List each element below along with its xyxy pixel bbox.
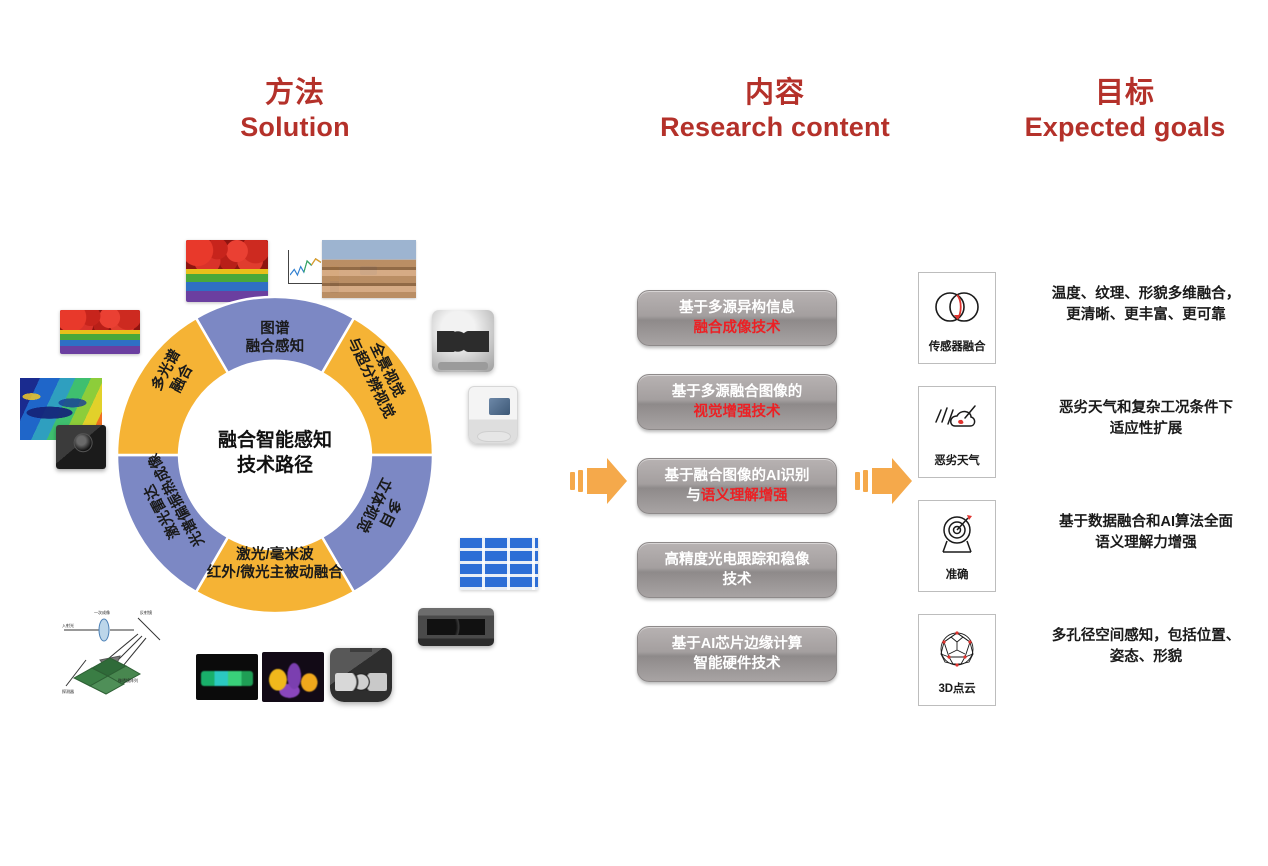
step-box-4-text: 基于AI芯片边缘计算 智能硬件技术 xyxy=(672,634,803,675)
hyperspectral-cube-thumbnail xyxy=(186,240,268,302)
step-box-4[interactable]: 基于AI芯片边缘计算 智能硬件技术 xyxy=(637,626,837,682)
wheel-center-label: 融合智能感知 技术路径 xyxy=(185,429,365,478)
step-box-2-text: 基于融合图像的AI识别 与语义理解增强 xyxy=(665,466,810,507)
goal-text-2: 基于数据融合和AI算法全面 语义理解力增强 xyxy=(1030,512,1262,554)
column-header-goals-cn: 目标 xyxy=(960,76,1268,111)
column-header-solution: 方法 Solution xyxy=(170,76,420,144)
step-box-2[interactable]: 基于融合图像的AI识别 与语义理解增强 xyxy=(637,458,837,514)
spectral-plot-y-axis xyxy=(288,250,289,284)
pipeline-blue-equipment xyxy=(360,266,377,275)
goal-card-1[interactable]: 恶劣天气 xyxy=(918,386,996,478)
column-header-content: 内容 Research content xyxy=(610,76,940,144)
3d-point-cloud-sphere-icon xyxy=(931,624,983,674)
goal-card-2-label: 准确 xyxy=(946,566,969,582)
step-box-0-text: 基于多源异构信息 融合成像技术 xyxy=(679,298,795,339)
sensor-fusion-venn-icon xyxy=(931,282,983,332)
thermal-night-scene-thumbnail xyxy=(262,652,324,702)
spectral-curve-plot-thumbnail xyxy=(272,246,326,298)
goal-card-2[interactable]: 准确 xyxy=(918,500,996,592)
arrow-solution-to-content xyxy=(570,455,628,507)
column-header-content-cn: 内容 xyxy=(610,76,940,111)
column-header-solution-en: Solution xyxy=(170,111,420,144)
goal-card-0-label: 传感器融合 xyxy=(929,338,986,354)
svg-text:入射光: 入射光 xyxy=(62,622,74,628)
ptz-white-camera-thumbnail xyxy=(468,386,518,444)
wheel-label-0: 图谱 融合感知 xyxy=(225,321,325,356)
column-header-goals: 目标 Expected goals xyxy=(960,76,1268,144)
column-header-goals-en: Expected goals xyxy=(960,111,1268,144)
goal-text-0: 温度、纹理、形貌多维融合， 更清晰、更丰富、更可靠 xyxy=(1030,284,1262,326)
lidar-point-cloud-scene-thumbnail xyxy=(196,654,258,700)
infographic-canvas: 方法 Solution 内容 Research content 目标 Expec… xyxy=(0,0,1268,866)
wheel-label-3: 激光/毫米波 红外/微光主被动融合 xyxy=(187,547,363,582)
black-industrial-camera-thumbnail xyxy=(56,425,106,469)
eo-gimbal-turret-thumbnail xyxy=(330,648,392,702)
solution-wheel: 图谱 融合感知 全景视觉 与超分辨视觉 多目 立体视觉 激光/毫米波 红外/微光… xyxy=(115,295,435,615)
arrow-content-to-goals xyxy=(855,455,913,507)
goal-row-1: 恶劣天气 恶劣天气和复杂工况条件下 适应性扩展 xyxy=(918,386,1258,482)
svg-text:探测器: 探测器 xyxy=(62,688,74,694)
pipeline-inspection-photo-thumbnail xyxy=(322,240,416,298)
step-box-0[interactable]: 基于多源异构信息 融合成像技术 xyxy=(637,290,837,346)
svg-text:一次成像: 一次成像 xyxy=(94,609,110,615)
goal-card-1-label: 恶劣天气 xyxy=(934,452,979,468)
bad-weather-rain-icon xyxy=(931,396,983,446)
spectral-plot-x-axis xyxy=(288,283,322,284)
panoramic-multi-lens-camera-thumbnail xyxy=(432,310,494,372)
goal-row-2: 准确 基于数据融合和AI算法全面 语义理解力增强 xyxy=(918,500,1258,596)
goal-row-3: 3D点云 多孔径空间感知，包括位置、 姿态、形貌 xyxy=(918,614,1258,710)
column-header-solution-cn: 方法 xyxy=(170,76,420,111)
goal-card-0[interactable]: 传感器融合 xyxy=(918,272,996,364)
pipeline-worker-figure xyxy=(330,266,338,294)
goal-row-0: 传感器融合 温度、纹理、形貌多维融合， 更清晰、更丰富、更可靠 xyxy=(918,272,1258,368)
step-box-1-text: 基于多源融合图像的 视觉增强技术 xyxy=(672,382,803,423)
goal-card-3-label: 3D点云 xyxy=(939,680,976,696)
polarization-brick-pattern-thumbnail xyxy=(460,538,538,590)
svg-text:微透镜阵列: 微透镜阵列 xyxy=(118,677,138,683)
step-box-1[interactable]: 基于多源融合图像的 视觉增强技术 xyxy=(637,374,837,430)
spectral-plot-curve xyxy=(290,254,322,282)
goal-text-1: 恶劣天气和复杂工况条件下 适应性扩展 xyxy=(1030,398,1262,440)
column-header-content-en: Research content xyxy=(610,111,940,144)
goal-text-3: 多孔径空间感知，包括位置、 姿态、形貌 xyxy=(1030,626,1262,668)
step-box-3[interactable]: 高精度光电跟踪和稳像 技术 xyxy=(637,542,837,598)
step-box-2-second-line: 与语义理解增强 xyxy=(665,486,810,506)
goal-card-3[interactable]: 3D点云 xyxy=(918,614,996,706)
step-box-3-text: 高精度光电跟踪和稳像 技术 xyxy=(665,550,810,591)
accuracy-target-icon xyxy=(931,510,983,560)
